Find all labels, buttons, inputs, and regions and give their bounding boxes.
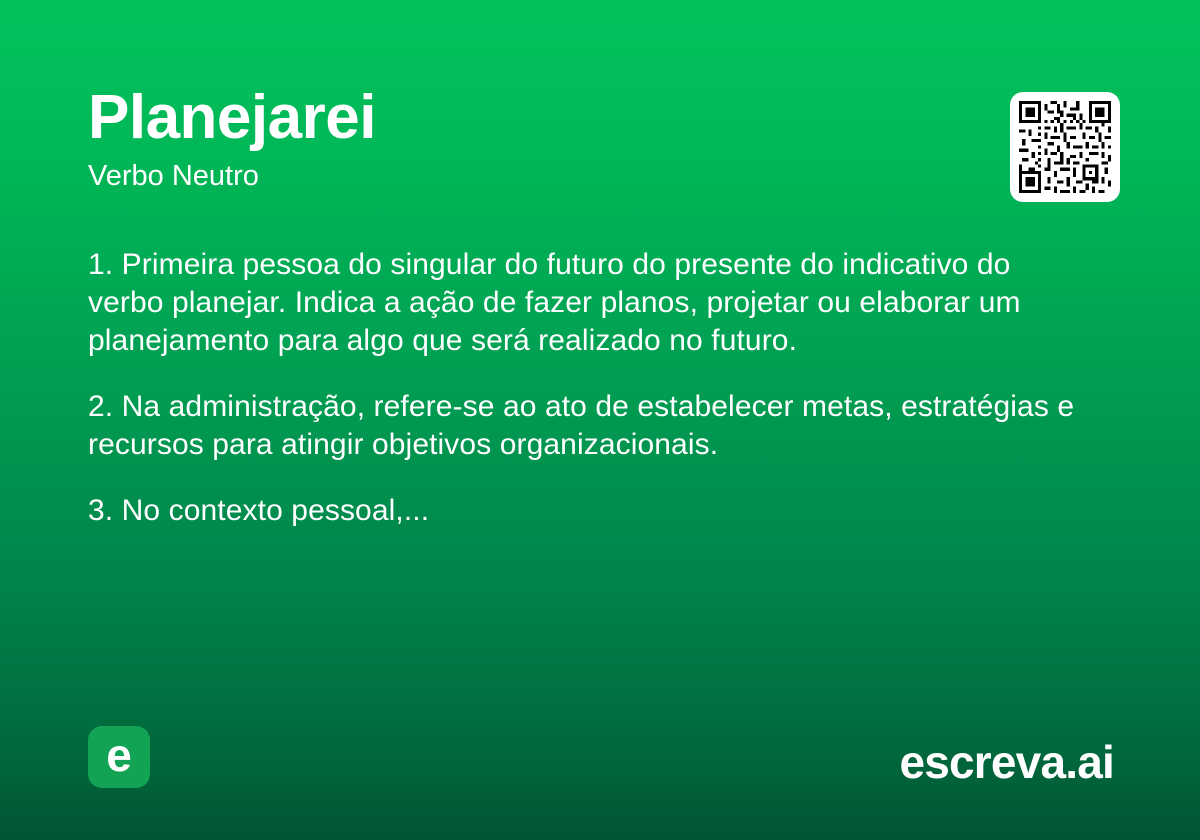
qr-code[interactable] [1010,92,1120,202]
escreva-logo-icon[interactable]: e [88,726,150,788]
definition-card: Planejarei Verbo Neutro [0,0,1200,840]
definition-item: 2. Na administração, refere-se ao ato de… [88,388,1078,464]
word-class-subtitle: Verbo Neutro [88,158,948,194]
page-title: Planejarei [88,82,948,154]
qr-code-icon [1019,101,1111,193]
definition-item: 1. Primeira pessoa do singular do futuro… [88,246,1078,360]
brand-wordmark: escreva.ai [899,734,1114,790]
definition-list: 1. Primeira pessoa do singular do futuro… [88,246,1078,530]
definition-item: 3. No contexto pessoal,... [88,492,1078,530]
logo-glyph: e [106,732,132,778]
card-header: Planejarei Verbo Neutro [88,82,948,194]
